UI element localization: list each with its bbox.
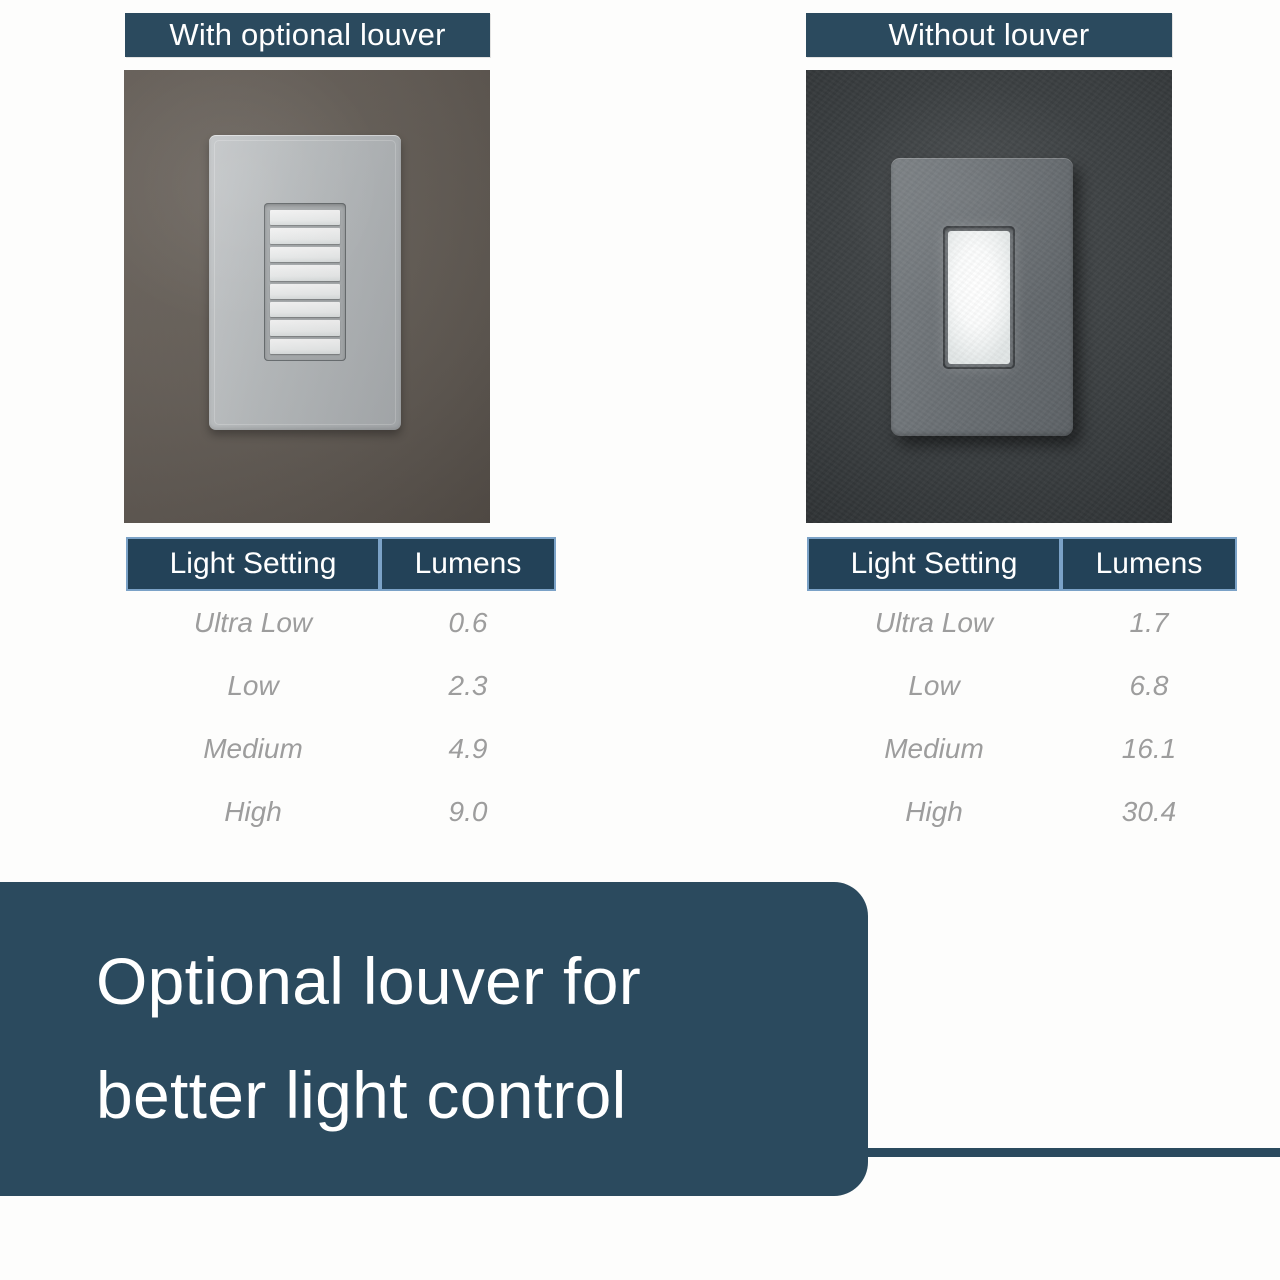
column-header-light-setting: Light Setting <box>126 537 380 591</box>
column-header-light-setting: Light Setting <box>807 537 1061 591</box>
cell-light-setting: Low <box>807 654 1061 717</box>
table-header-row: Light Setting Lumens <box>126 537 556 591</box>
cell-lumens: 9.0 <box>380 780 556 843</box>
cell-lumens: 16.1 <box>1061 717 1237 780</box>
cell-light-setting: Medium <box>126 717 380 780</box>
wall-plate-without-louver <box>891 158 1073 436</box>
cell-light-setting: High <box>807 780 1061 843</box>
table-row: Low 2.3 <box>126 654 556 717</box>
louver-slat <box>270 247 340 262</box>
spec-table-with-louver: Light Setting Lumens Ultra Low 0.6 Low 2… <box>126 537 556 843</box>
louver-slat <box>270 339 340 354</box>
table-row: Ultra Low 0.6 <box>126 591 556 654</box>
section-title-with-louver: With optional louver <box>125 13 490 57</box>
louver-slat <box>270 210 340 225</box>
cell-lumens: 2.3 <box>380 654 556 717</box>
louver-slat <box>270 284 340 299</box>
callout-banner: Optional louver for better light control <box>0 882 868 1196</box>
table-row: Medium 16.1 <box>807 717 1237 780</box>
cell-light-setting: Ultra Low <box>126 591 380 654</box>
light-lens <box>948 231 1010 364</box>
louver-slat <box>270 320 340 335</box>
table-row: Low 6.8 <box>807 654 1237 717</box>
light-lens-window <box>943 226 1015 369</box>
louver-slat <box>270 265 340 280</box>
cell-lumens: 6.8 <box>1061 654 1237 717</box>
louver-light-window <box>264 203 346 361</box>
spec-table-without-louver: Light Setting Lumens Ultra Low 1.7 Low 6… <box>807 537 1237 843</box>
callout-line-1: Optional louver for <box>96 925 641 1039</box>
louver-slat <box>270 228 340 243</box>
cell-lumens: 4.9 <box>380 717 556 780</box>
cell-light-setting: Medium <box>807 717 1061 780</box>
section-title-without-louver: Without louver <box>806 13 1172 57</box>
callout-banner-text: Optional louver for better light control <box>0 925 681 1152</box>
cell-light-setting: Low <box>126 654 380 717</box>
table-row: Ultra Low 1.7 <box>807 591 1237 654</box>
banner-trailing-rule <box>868 1148 1280 1157</box>
callout-line-2: better light control <box>96 1039 641 1153</box>
louver-slat <box>270 302 340 317</box>
cell-lumens: 1.7 <box>1061 591 1237 654</box>
cell-light-setting: High <box>126 780 380 843</box>
wall-plate-with-louver <box>209 135 401 430</box>
table-row: High 9.0 <box>126 780 556 843</box>
column-header-lumens: Lumens <box>380 537 556 591</box>
section-title-label: With optional louver <box>169 17 445 53</box>
product-photo-with-louver <box>124 70 490 523</box>
cell-lumens: 30.4 <box>1061 780 1237 843</box>
table-header-row: Light Setting Lumens <box>807 537 1237 591</box>
cell-light-setting: Ultra Low <box>807 591 1061 654</box>
table-row: High 30.4 <box>807 780 1237 843</box>
column-header-lumens: Lumens <box>1061 537 1237 591</box>
section-title-label: Without louver <box>889 17 1090 53</box>
table-row: Medium 4.9 <box>126 717 556 780</box>
cell-lumens: 0.6 <box>380 591 556 654</box>
product-photo-without-louver <box>806 70 1172 523</box>
